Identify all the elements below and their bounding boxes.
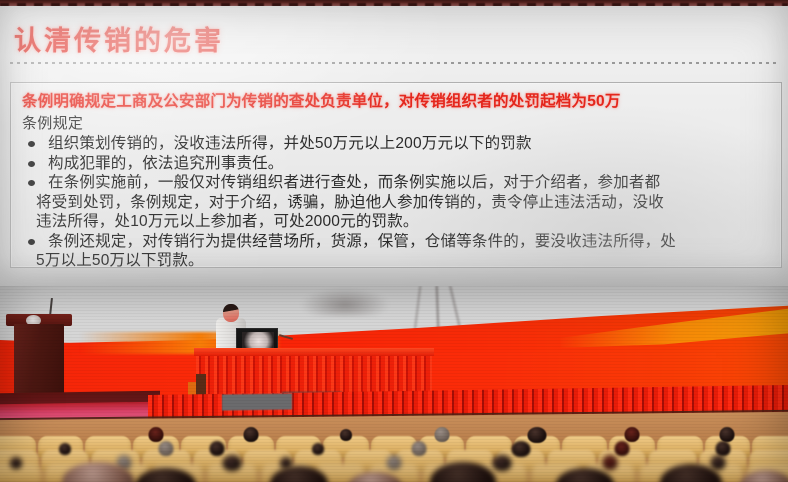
audience-head bbox=[387, 455, 402, 470]
slide-title: 认清传销的危害 bbox=[14, 19, 224, 58]
audience-head bbox=[244, 427, 259, 442]
audience-head bbox=[716, 441, 731, 456]
list-item: 组织策划传销的，没收违法所得，并处50万元以上200万元以下的罚款 bbox=[22, 134, 777, 154]
wall-smudge bbox=[300, 288, 390, 316]
projected-slide: 认清传销的危害 条例明确规定工商及公安部门为传销的查处负责单位，对传销组织者的处… bbox=[0, 6, 788, 286]
audience-head bbox=[603, 455, 618, 470]
list-item: 条例还规定，对传销行为提供经营场所，货源，保管，仓储等条件的，要没收违法所得，处… bbox=[22, 232, 777, 271]
audience-head bbox=[10, 457, 22, 469]
bullet-line-1: 组织策划传销的，没收违法所得，并处50万元以上200万元以下的罚款 bbox=[48, 135, 532, 152]
bullet-line-2: 5万以上50万以下罚款。 bbox=[36, 251, 777, 271]
bullet-line-1: 条例还规定，对传销行为提供经营场所，货源，保管，仓储等条件的，要没收违法所得，处 bbox=[48, 233, 676, 250]
audience-head bbox=[614, 441, 629, 456]
audience-head bbox=[625, 427, 640, 442]
audience-head bbox=[511, 441, 530, 457]
list-item: 在条例实施前，一般仅对传销组织者进行查处，而条例实施以后，对于介绍者，参加者都 … bbox=[22, 173, 777, 232]
title-divider bbox=[10, 62, 778, 64]
slide-lead-line: 条例明确规定工商及公安部门为传销的查处负责单位，对传销组织者的处罚起档为50万 bbox=[22, 89, 777, 111]
audience-seat bbox=[206, 464, 258, 482]
screenshot-root: 认清传销的危害 条例明确规定工商及公安部门为传销的查处负责单位，对传销组织者的处… bbox=[0, 0, 788, 482]
podium-body bbox=[14, 324, 64, 396]
audience-head bbox=[148, 427, 163, 442]
bullet-line-3: 违法所得，处10万元以上参加者，可处2000元的罚款。 bbox=[36, 212, 777, 232]
bullet-line-1: 在条例实施前，一般仅对传销组织者进行查处，而条例实施以后，对于介绍者，参加者都 bbox=[48, 174, 660, 191]
slide-content-box: 条例明确规定工商及公安部门为传销的查处负责单位，对传销组织者的处罚起档为50万 … bbox=[10, 82, 782, 268]
audience-head bbox=[527, 427, 546, 443]
table-top bbox=[194, 348, 434, 356]
audience-head bbox=[711, 455, 726, 470]
audience-head bbox=[720, 427, 735, 442]
audience-head bbox=[340, 429, 352, 441]
audience-head bbox=[159, 441, 174, 456]
slide-sub-line: 条例规定 bbox=[22, 112, 777, 133]
audience-seat bbox=[0, 464, 42, 482]
audience-head bbox=[412, 441, 427, 456]
conference-hall-photo bbox=[0, 286, 788, 482]
audience-head bbox=[209, 441, 224, 456]
audience-head bbox=[223, 455, 242, 471]
presenter-head bbox=[223, 304, 239, 322]
bullet-line-2: 将受到处罚，条例规定，对于介绍，诱骗，胁迫他人参加传销的，责令停止违法活动，没收 bbox=[36, 193, 777, 213]
slide-bullet-list: 组织策划传销的，没收违法所得，并处50万元以上200万元以下的罚款 构成犯罪的，… bbox=[22, 134, 777, 271]
bullet-line-1: 构成犯罪的，依法追究刑事责任。 bbox=[48, 155, 284, 172]
audience-head bbox=[312, 443, 324, 455]
laptop-screen bbox=[242, 332, 274, 349]
audience-head bbox=[493, 455, 512, 471]
list-item: 构成犯罪的，依法追究刑事责任。 bbox=[22, 154, 777, 174]
curtain-gap bbox=[222, 393, 292, 410]
podium bbox=[6, 314, 72, 402]
audience-head bbox=[434, 427, 449, 442]
audience-head bbox=[59, 443, 71, 455]
